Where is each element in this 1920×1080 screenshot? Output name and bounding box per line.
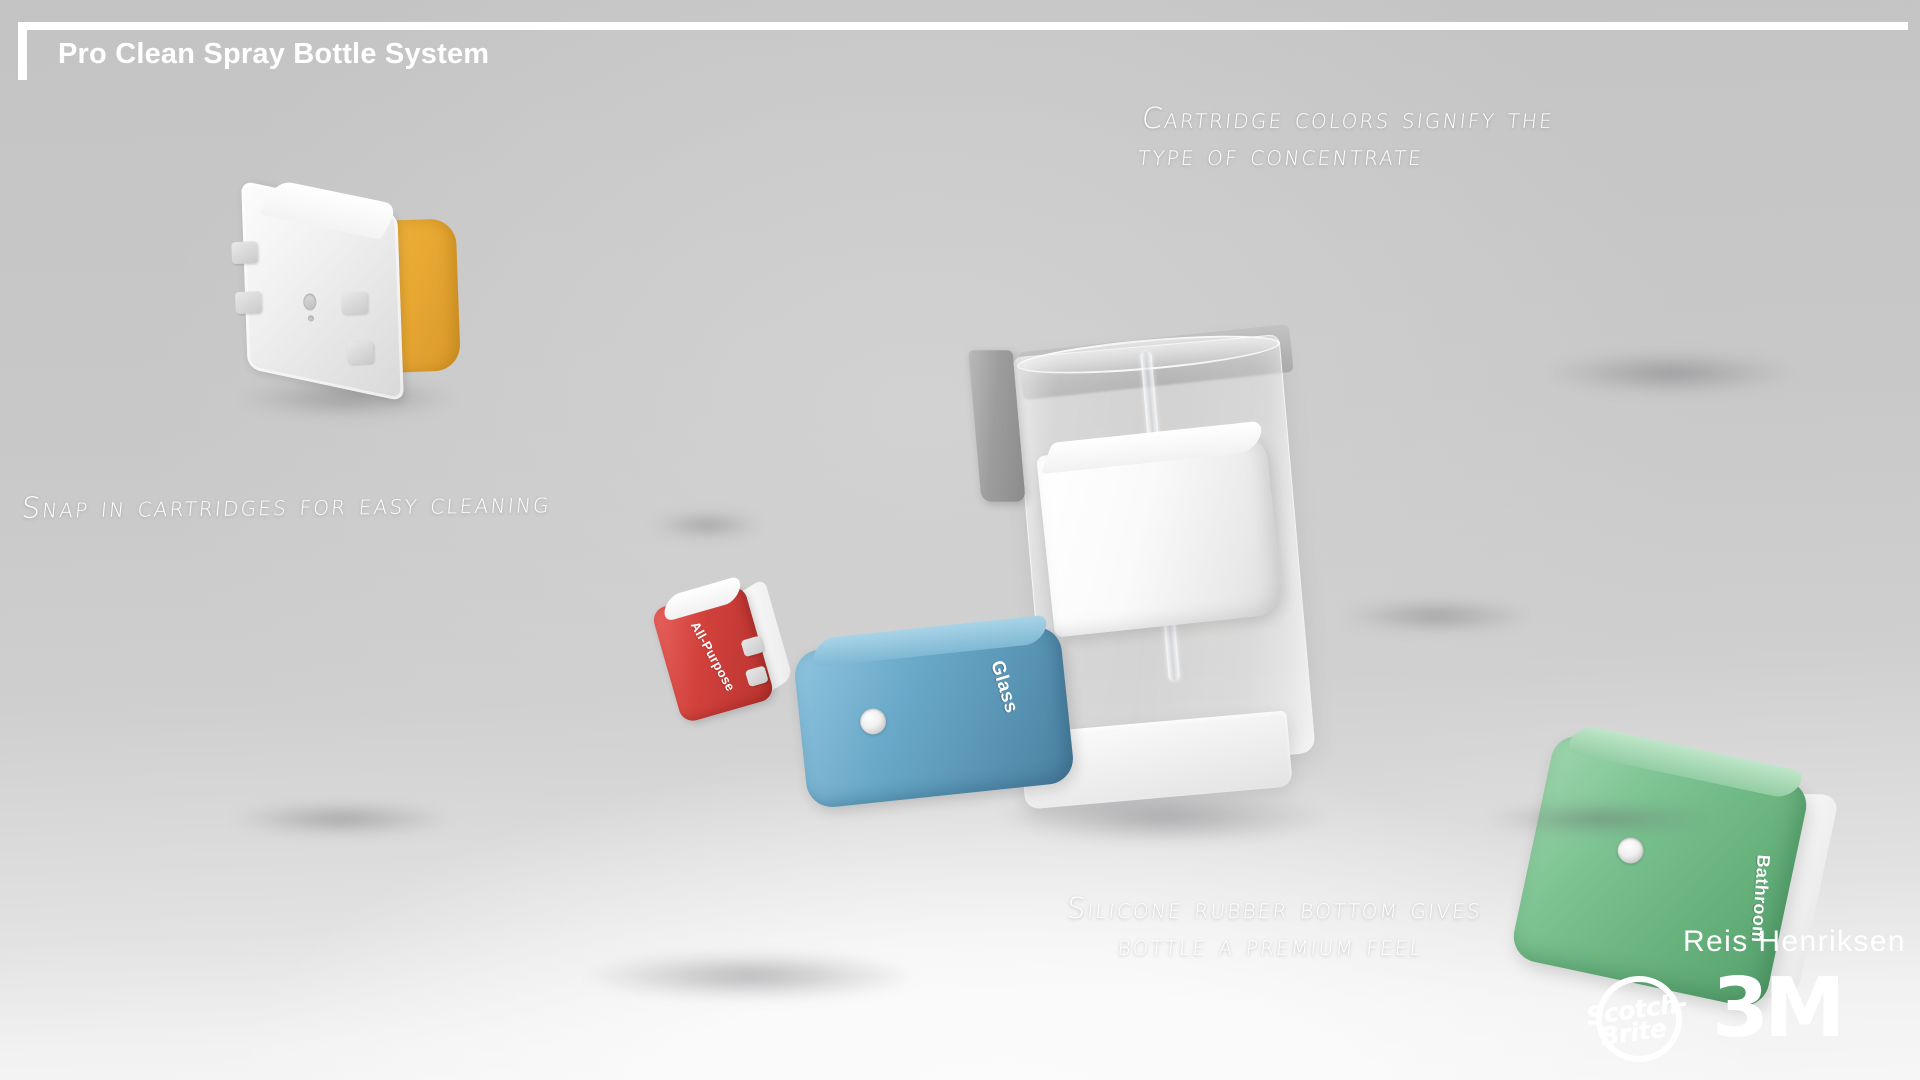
spray-head-housing[interactable] — [1036, 432, 1284, 637]
snap-clip-icon — [347, 341, 374, 364]
annotation-snap-in: Snap in cartridges for easy cleaning — [20, 484, 553, 527]
3m-logo: 3M — [1712, 968, 1841, 1050]
title-frame: Pro Clean Spray Bottle System — [18, 22, 1908, 86]
cartridge-shadow — [585, 952, 915, 1000]
annotation-cartridge-colors: Cartridge colors signify the type of con… — [1136, 100, 1556, 174]
title-frame-top-rule — [18, 22, 1908, 30]
scotch-brite-logo: Scotch- Brite — [1592, 970, 1692, 1066]
snap-clip-icon — [341, 291, 368, 314]
snap-clip-icon — [235, 291, 262, 314]
snap-clip-icon — [231, 241, 258, 264]
cartridge-bleach-back[interactable] — [242, 192, 463, 389]
cartridge-glass-installed[interactable]: Glass — [792, 624, 1075, 809]
cartridge-shadow — [1545, 352, 1795, 394]
designer-credit: Reis Henriksen — [1683, 925, 1906, 959]
page-title: Pro Clean Spray Bottle System — [58, 38, 489, 71]
cartridge-shadow — [232, 802, 452, 836]
cartridge-shadow — [1486, 802, 1716, 836]
title-frame-left-rule — [18, 22, 27, 80]
cartridge-shadow — [652, 512, 762, 538]
logo-row: Scotch- Brite 3M — [1592, 968, 1902, 1068]
presentation-board: Pro Clean Spray Bottle System All-Purpos… — [0, 0, 1920, 1080]
annotation-silicone-bottom: Silicone rubber bottom gives bottle a pr… — [1061, 890, 1484, 964]
cartridge-all-purpose-small[interactable]: All-Purpose — [651, 584, 776, 724]
cartridge-shadow — [1342, 600, 1532, 632]
